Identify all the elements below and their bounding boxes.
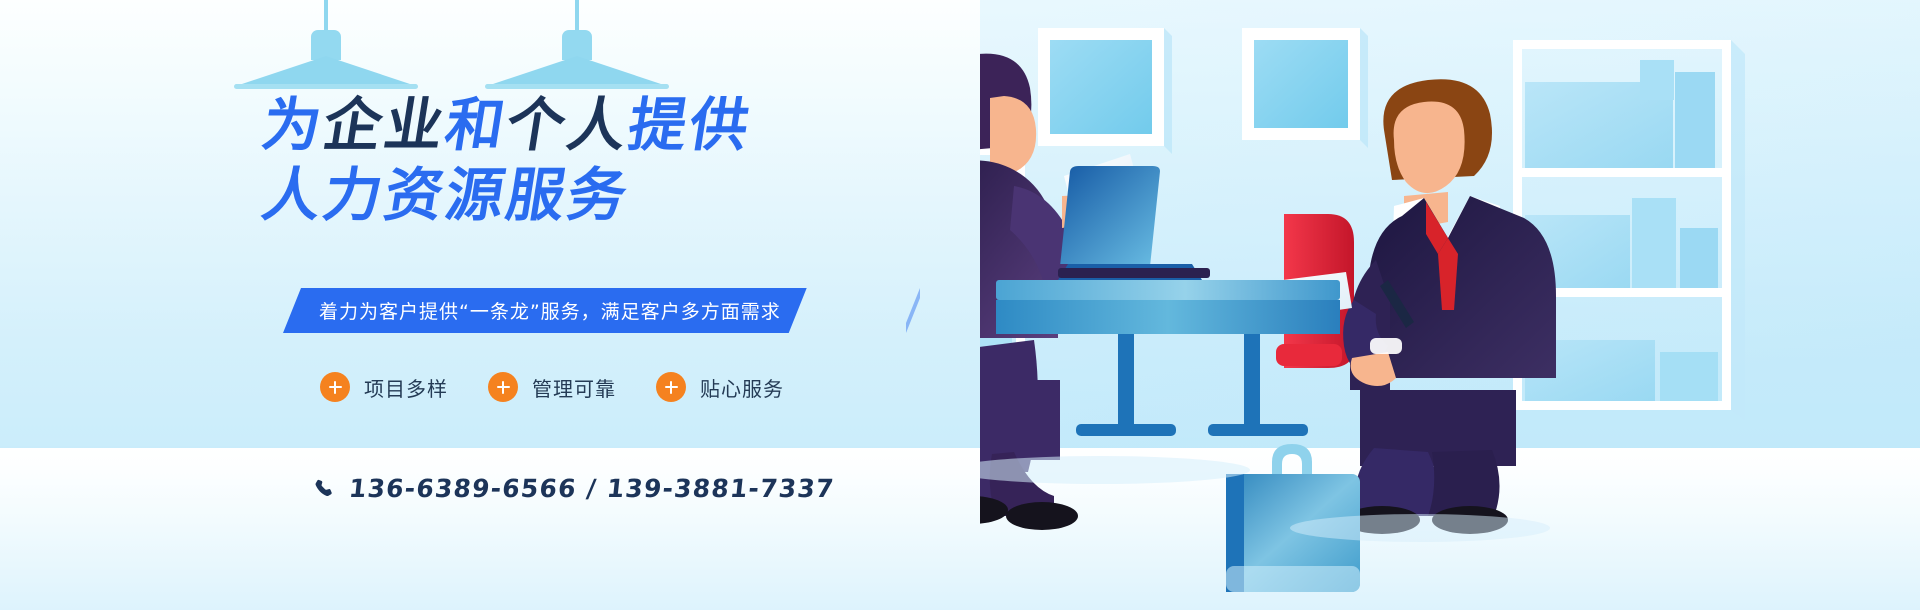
headline-line-1: 为企业和个人提供 [258,96,755,154]
headline-block: 为企业和个人提供 人力资源服务 [263,96,751,224]
picture-frame-1 [1038,28,1172,154]
shoe-left-2 [1006,502,1078,530]
plus-icon [320,372,350,402]
phone-icon [313,478,335,500]
phone-numbers: 136-6389-6566 / 139-3881-7337 [347,474,836,503]
lamp-cord [575,0,579,33]
headline-seg-1: 为 [258,91,330,159]
headline-seg-3: 和 [441,91,513,159]
picture-frame-2 [1242,28,1368,148]
ribbon-tail-accent [906,288,920,333]
lamp-rim [234,84,418,89]
plus-icon [488,372,518,402]
lamp-cord [324,0,328,33]
headline-seg-4: 个人 [502,91,635,159]
feature-item-2[interactable]: 管理可靠 [488,372,616,402]
lamp-rim [485,84,669,89]
contact-phone[interactable]: 136-6389-6566 / 139-3881-7337 [313,474,835,503]
headline-seg-5: 提供 [624,91,757,159]
plus-icon [656,372,686,402]
hero-banner: 为企业和个人提供 人力资源服务 着力为客户提供“一条龙”服务，满足客户多方面需求… [0,0,1920,610]
lamp-shade [236,56,416,86]
subtitle-text: 着力为客户提供“一条龙”服务，满足客户多方面需求 [319,297,781,324]
office-illustration [980,0,1920,610]
feature-item-3[interactable]: 贴心服务 [656,372,784,402]
lamp-shade [487,56,667,86]
feature-label-1: 项目多样 [364,373,448,402]
feature-list: 项目多样 管理可靠 贴心服务 [320,372,784,402]
headline-line-2: 人力资源服务 [258,166,755,224]
headline-seg-2: 企业 [319,91,452,159]
floor-shadow-right [1290,514,1550,542]
feature-item-1[interactable]: 项目多样 [320,372,448,402]
feature-label-3: 贴心服务 [700,373,784,402]
floor-shadow-left [980,456,1250,484]
subtitle-ribbon: 着力为客户提供“一条龙”服务，满足客户多方面需求 [283,288,807,333]
feature-label-2: 管理可靠 [532,373,616,402]
